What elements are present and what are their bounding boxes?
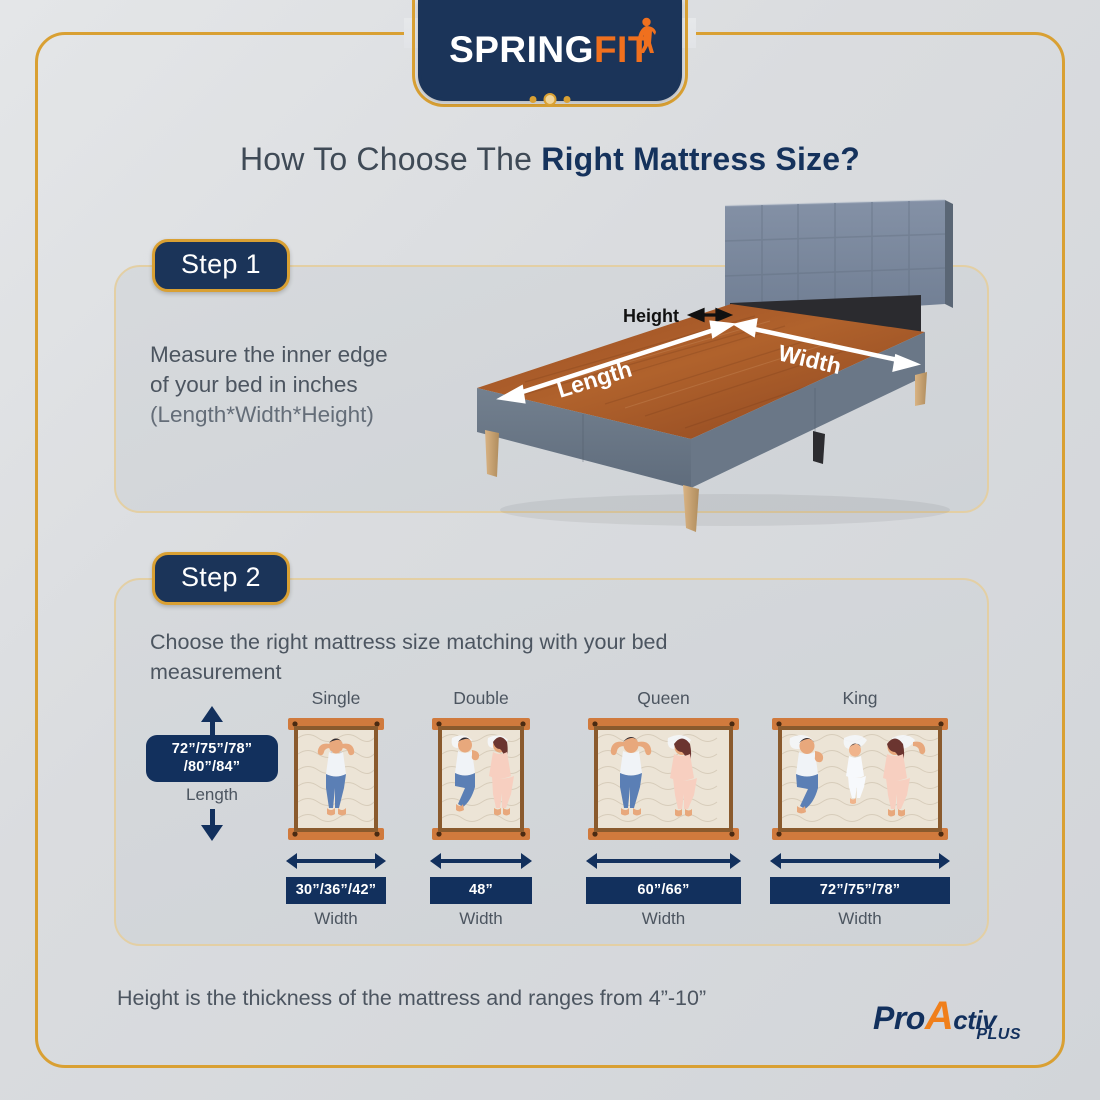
- mattress-image-king: [770, 714, 950, 844]
- length-value-line2: /80”/84”: [152, 758, 272, 776]
- step2-instruction: Choose the right mattress size matching …: [150, 628, 880, 687]
- brand-logo-tab: SPRINGFIT: [418, 0, 682, 101]
- proactiv-pro: Pro: [873, 1000, 925, 1036]
- mattress-size-row: Single: [286, 688, 926, 933]
- length-value-line1: 72”/75”/78”: [152, 740, 272, 758]
- arrow-bar: [295, 859, 377, 863]
- dot-large-center: [544, 93, 557, 106]
- length-arrow-up-icon: [201, 706, 223, 722]
- mattress-card-single[interactable]: Single: [286, 688, 386, 929]
- mattress-card-king[interactable]: King: [770, 688, 950, 929]
- width-caption-single: Width: [286, 909, 386, 929]
- footer-note: Height is the thickness of the mattress …: [117, 986, 706, 1011]
- width-arrow-king: [770, 853, 950, 869]
- width-value-queen: 60”/66”: [586, 877, 741, 904]
- page-title: How To Choose The Right Mattress Size?: [0, 141, 1100, 178]
- page-title-emphasis: Right Mattress Size?: [541, 141, 860, 177]
- width-caption-double: Width: [430, 909, 532, 929]
- logo-text-spring: SPRING: [449, 29, 594, 70]
- length-stem-bottom: [210, 809, 215, 825]
- logo-text-fit: FIT: [594, 29, 651, 70]
- length-value-badge: 72”/75”/78” /80”/84”: [146, 735, 278, 782]
- step1-line3: (Length*Width*Height): [150, 400, 480, 430]
- step2-badge: Step 2: [152, 552, 290, 605]
- dot-small-right: [564, 96, 571, 103]
- proactiv-a: A: [925, 994, 953, 1038]
- mattress-card-queen[interactable]: Queen: [586, 688, 741, 929]
- mattress-card-double[interactable]: Double: [430, 688, 532, 929]
- width-value-king: 72”/75”/78”: [770, 877, 950, 904]
- width-arrow-single: [286, 853, 386, 869]
- mattress-image-double: [430, 714, 532, 844]
- length-stem-top: [210, 722, 215, 735]
- arrow-head-right: [730, 853, 741, 869]
- springfit-wordmark: SPRINGFIT: [449, 31, 651, 68]
- proactiv-plus-logo: ProActiv PLUS: [873, 996, 1023, 1048]
- length-arrow-down-icon: [201, 825, 223, 841]
- arrow-bar: [595, 859, 732, 863]
- dot-small-left: [530, 96, 537, 103]
- width-arrow-double: [430, 853, 532, 869]
- decorative-dots: [530, 93, 571, 106]
- length-caption: Length: [152, 785, 272, 805]
- arrow-head-right: [939, 853, 950, 869]
- arrow-bar: [439, 859, 523, 863]
- bed-label-height: Height: [623, 306, 679, 326]
- mattress-image-single: [286, 714, 386, 844]
- mattress-name-single: Single: [286, 688, 386, 709]
- width-value-double: 48”: [430, 877, 532, 904]
- width-caption-king: Width: [770, 909, 950, 929]
- step1-line1: Measure the inner edge: [150, 340, 480, 370]
- length-indicator: 72”/75”/78” /80”/84” Length: [152, 706, 272, 841]
- mattress-name-double: Double: [430, 688, 532, 709]
- arrow-bar: [779, 859, 941, 863]
- step2-line2: measurement: [150, 658, 880, 688]
- proactiv-plus-text: PLUS: [976, 1026, 1021, 1044]
- bed-illustration: Height Length Width: [455, 192, 975, 532]
- page-title-prefix: How To Choose The: [240, 141, 541, 177]
- mattress-image-queen: [586, 714, 741, 844]
- step1-instruction: Measure the inner edge of your bed in in…: [150, 340, 480, 430]
- step1-badge: Step 1: [152, 239, 290, 292]
- width-value-single: 30”/36”/42”: [286, 877, 386, 904]
- mattress-name-queen: Queen: [586, 688, 741, 709]
- arrow-head-right: [375, 853, 386, 869]
- width-arrow-queen: [586, 853, 741, 869]
- mattress-name-king: King: [770, 688, 950, 709]
- width-caption-queen: Width: [586, 909, 741, 929]
- fit-jumping-figure-icon: [634, 17, 656, 53]
- arrow-head-right: [521, 853, 532, 869]
- step1-line2: of your bed in inches: [150, 370, 480, 400]
- step2-line1: Choose the right mattress size matching …: [150, 628, 880, 658]
